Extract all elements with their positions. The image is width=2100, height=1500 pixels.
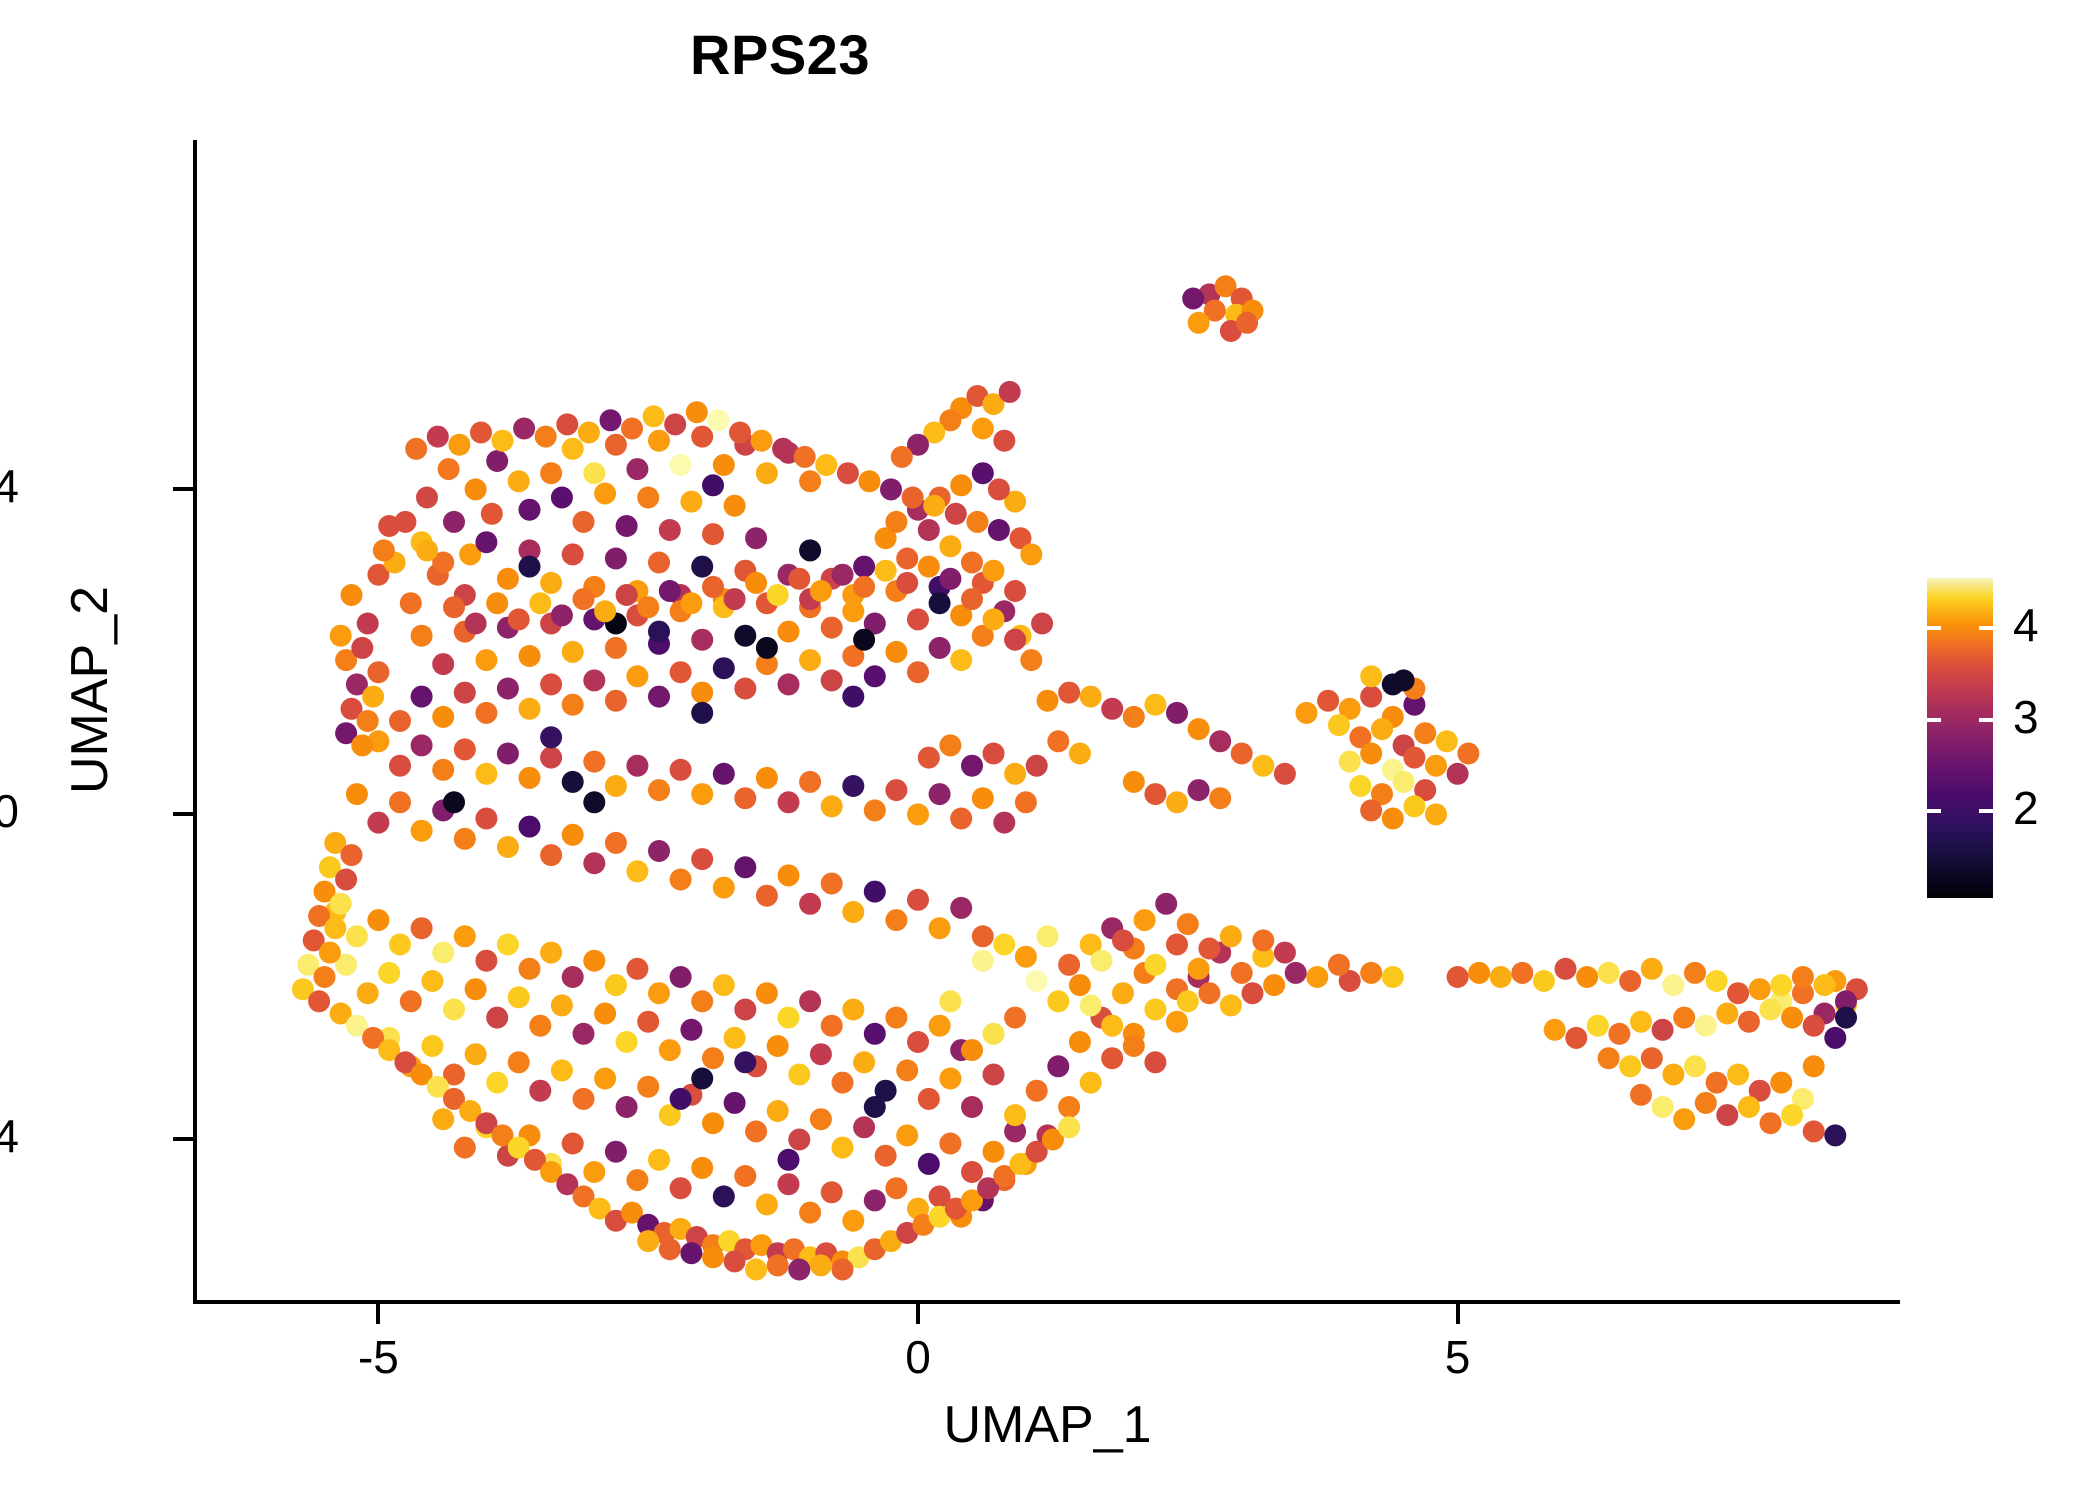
colorbar-legend [1927, 578, 1993, 898]
x-tick-label: -5 [298, 1330, 458, 1384]
x-axis-label: UMAP_1 [195, 1395, 1900, 1455]
colorbar-tick-mark [1927, 718, 1941, 722]
y-tick-mark [173, 812, 193, 816]
plot-panel [195, 140, 1900, 1302]
colorbar-tick-mark [1979, 626, 1993, 630]
colorbar-tick-mark [1979, 809, 1993, 813]
y-tick-label: -4 [0, 1109, 19, 1163]
colorbar-tick-mark [1927, 626, 1941, 630]
y-tick-mark [173, 1137, 193, 1141]
x-tick-mark [376, 1304, 380, 1324]
page-title: RPS23 [0, 22, 1560, 87]
colorbar-tick-label: 2 [2013, 781, 2039, 835]
y-tick-mark [173, 487, 193, 491]
y-axis-label: UMAP_2 [60, 290, 120, 1090]
y-axis-line [193, 140, 197, 1304]
colorbar-tick-mark [1927, 809, 1941, 813]
x-axis-line [193, 1300, 1900, 1304]
x-tick-mark [1456, 1304, 1460, 1324]
x-tick-mark [916, 1304, 920, 1324]
colorbar-tick-mark [1979, 718, 1993, 722]
umap-feature-plot: RPS23 -404 -505 UMAP_1 UMAP_2 234 [0, 0, 2100, 1500]
y-tick-label: 4 [0, 459, 19, 513]
x-tick-label: 0 [838, 1330, 998, 1384]
y-tick-label: 0 [0, 784, 19, 838]
colorbar-tick-label: 4 [2013, 598, 2039, 652]
x-tick-label: 5 [1378, 1330, 1538, 1384]
colorbar-tick-label: 3 [2013, 690, 2039, 744]
